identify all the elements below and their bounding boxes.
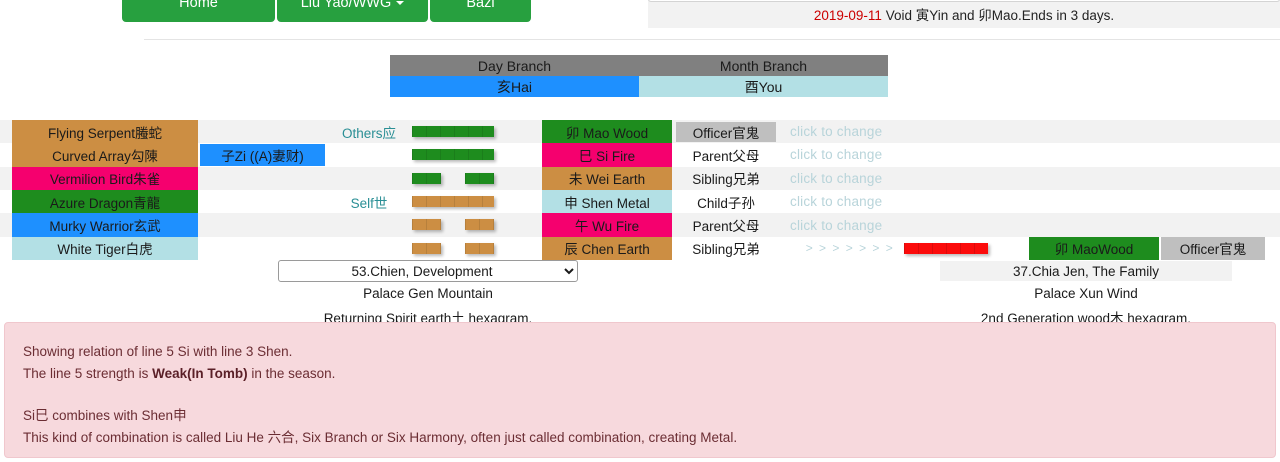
- six-god-label: Murky Warrior玄武: [49, 215, 160, 235]
- click-to-change-label: click to change: [790, 124, 882, 139]
- branch-element-label: 午 Wu Fire: [575, 215, 639, 235]
- hexagram-footer: 53.Chien, Development Palace Gen Mountai…: [0, 260, 1280, 322]
- branch-element-cell: 卯 Mao Wood: [542, 120, 672, 143]
- branch-element-cell: 未 Wei Earth: [542, 167, 672, 190]
- change-arrows-label: > > > > > > >: [806, 241, 895, 255]
- nav-button-bazi[interactable]: Bazi: [430, 0, 531, 22]
- self-other-marker: Others应: [330, 120, 408, 143]
- self-other-label: Others应: [342, 122, 396, 142]
- branch-element-label: 申 Shen Metal: [564, 192, 650, 212]
- branch-header-table: Day Branch Month Branch 亥Hai 酉You: [390, 55, 888, 97]
- relation-cell: Officer官鬼: [676, 122, 776, 142]
- day-branch-header: Day Branch: [390, 55, 639, 76]
- left-palace-label: Palace Gen Mountain: [278, 286, 578, 301]
- hidden-branch-label: 子Zi ((A)妻财): [221, 145, 303, 165]
- relation-cell: Child子孙: [676, 192, 776, 212]
- relation-cell: Sibling兄弟: [676, 169, 776, 189]
- relation-label: Parent父母: [693, 215, 760, 235]
- branch-element-label: 未 Wei Earth: [569, 168, 645, 188]
- relation-label: Officer官鬼: [693, 122, 760, 142]
- top-navigation: Home Liu Yao/WWG Bazi: [0, 0, 640, 22]
- six-god-cell: White Tiger白虎: [12, 237, 198, 260]
- hexagram-line-row: Azure Dragon青龍Self世申 Shen MetalChild子孙cl…: [0, 190, 1280, 213]
- info-line-2: The line 5 strength is Weak(In Tomb) in …: [23, 363, 1257, 385]
- branch-element-label: 辰 Chen Earth: [564, 238, 650, 258]
- info-line-3: Si巳 combines with Shen申: [23, 405, 1257, 427]
- click-to-change-action[interactable]: click to change: [790, 213, 960, 236]
- info-spacer: [23, 384, 1257, 405]
- void-info-line: 2019-09-11 Void 寅Yin and 卯Mao.Ends in 3 …: [648, 4, 1280, 24]
- relation-label: Parent父母: [693, 145, 760, 165]
- six-god-label: White Tiger白虎: [57, 238, 152, 258]
- info-line-2-post: in the season.: [248, 366, 336, 381]
- yao-line-cell[interactable]: [412, 213, 494, 236]
- relation-label: Child子孙: [697, 192, 755, 212]
- click-to-change-action[interactable]: click to change: [790, 167, 960, 190]
- branch-element-label: 巳 Si Fire: [579, 145, 635, 165]
- hexagram-line-row: Vermilion Bird朱雀未 Wei EarthSibling兄弟clic…: [0, 167, 1280, 190]
- click-to-change-label: click to change: [790, 147, 882, 162]
- branch-element-cell: 巳 Si Fire: [542, 143, 672, 166]
- hexagram-line-row: Murky Warrior玄武午 Wu FireParent父母click to…: [0, 213, 1280, 236]
- relation-label: Sibling兄弟: [692, 238, 760, 258]
- info-strength-value: Weak(In Tomb): [152, 366, 248, 381]
- chevron-down-icon: [396, 1, 404, 5]
- hexagram-lines-grid: Flying Serpent螣蛇Others应卯 Mao WoodOfficer…: [0, 120, 1280, 260]
- yao-solid-icon: [412, 126, 494, 137]
- branch-element-cell: 申 Shen Metal: [542, 190, 672, 213]
- note-textarea[interactable]: [648, 0, 1280, 2]
- yao-solid-icon: [412, 196, 494, 207]
- note-panel: 2019-09-11 Void 寅Yin and 卯Mao.Ends in 3 …: [648, 0, 1280, 28]
- info-line-2-pre: The line 5 strength is: [23, 366, 152, 381]
- relation-cell: Parent父母: [676, 215, 776, 235]
- relation-label: Sibling兄弟: [692, 168, 760, 188]
- six-god-cell: Flying Serpent螣蛇: [12, 120, 198, 143]
- month-branch-header: Month Branch: [639, 55, 888, 76]
- relation-info-panel: Showing relation of line 5 Si with line …: [4, 322, 1276, 458]
- day-branch-value: 亥Hai: [390, 76, 639, 97]
- changed-branch-cell: 卯 MaoWood: [1029, 237, 1159, 260]
- nav-label: Liu Yao/WWG: [301, 0, 392, 11]
- branch-element-cell: 辰 Chen Earth: [542, 237, 672, 260]
- hexagram-line-row: Flying Serpent螣蛇Others应卯 Mao WoodOfficer…: [0, 120, 1280, 143]
- void-date: 2019-09-11: [814, 8, 882, 23]
- page-root: Home Liu Yao/WWG Bazi 2019-09-11 Void 寅Y…: [0, 0, 1280, 462]
- void-text: Void 寅Yin and 卯Mao.Ends in 3 days.: [886, 8, 1114, 23]
- nav-label: Home: [179, 0, 218, 11]
- click-to-change-label: click to change: [790, 218, 882, 233]
- yao-line-cell[interactable]: [412, 237, 494, 260]
- six-god-cell: Vermilion Bird朱雀: [12, 167, 198, 190]
- yao-line-cell[interactable]: [412, 120, 494, 143]
- relation-cell: Parent父母: [676, 145, 776, 165]
- six-god-cell: Azure Dragon青龍: [12, 190, 198, 213]
- hexagram-select[interactable]: 53.Chien, Development: [278, 260, 578, 282]
- branch-value-row: 亥Hai 酉You: [390, 76, 888, 97]
- nav-button-liu-yao-wwg[interactable]: Liu Yao/WWG: [277, 0, 428, 22]
- six-god-label: Azure Dragon青龍: [50, 192, 160, 212]
- self-other-marker: Self世: [330, 190, 408, 213]
- relation-cell: Sibling兄弟: [676, 239, 776, 259]
- six-god-label: Flying Serpent螣蛇: [48, 122, 162, 142]
- info-line-4: This kind of combination is called Liu H…: [23, 427, 1257, 449]
- yao-line-cell[interactable]: [412, 143, 494, 166]
- hexagram-line-row: Curved Array勾陳子Zi ((A)妻财)巳 Si FireParent…: [0, 143, 1280, 166]
- month-branch-value: 酉You: [639, 76, 888, 97]
- yao-broken-left-icon: [412, 173, 441, 184]
- yao-solid-icon: [412, 149, 494, 160]
- branch-header-row: Day Branch Month Branch: [390, 55, 888, 76]
- right-palace-label: Palace Xun Wind: [940, 286, 1232, 301]
- right-hexagram-name: 37.Chia Jen, The Family: [940, 261, 1232, 281]
- nav-label: Bazi: [466, 0, 494, 11]
- branch-element-label: 卯 Mao Wood: [566, 122, 648, 142]
- yao-line-cell[interactable]: [412, 190, 494, 213]
- change-arrows: > > > > > > >: [790, 237, 910, 260]
- header-divider: [144, 39, 1280, 40]
- yao-broken-right-icon: [465, 243, 494, 254]
- yao-broken-right-icon: [465, 173, 494, 184]
- changed-relation-cell: Officer官鬼: [1161, 237, 1265, 260]
- nav-button-home[interactable]: Home: [122, 0, 275, 22]
- click-to-change-action[interactable]: click to change: [790, 190, 960, 213]
- six-god-label: Vermilion Bird朱雀: [50, 168, 160, 188]
- click-to-change-label: click to change: [790, 171, 882, 186]
- hidden-branch-cell[interactable]: 子Zi ((A)妻财): [200, 144, 325, 166]
- branch-element-cell: 午 Wu Fire: [542, 213, 672, 236]
- yao-line-cell[interactable]: [412, 167, 494, 190]
- six-god-cell: Murky Warrior玄武: [12, 213, 198, 236]
- click-to-change-label: click to change: [790, 194, 882, 209]
- changed-relation-label: Officer官鬼: [1180, 238, 1247, 258]
- six-god-cell: Curved Array勾陳: [12, 143, 198, 166]
- changed-yao-cell[interactable]: [904, 237, 988, 260]
- info-line-1: Showing relation of line 5 Si with line …: [23, 341, 1257, 363]
- yao-broken-left-icon: [412, 219, 441, 230]
- click-to-change-action[interactable]: click to change: [790, 143, 960, 166]
- hexagram-line-row: White Tiger白虎辰 Chen EarthSibling兄弟> > > …: [0, 237, 1280, 260]
- yao-changed-solid-icon: [904, 243, 988, 254]
- yao-broken-right-icon: [465, 219, 494, 230]
- click-to-change-action[interactable]: click to change: [790, 120, 960, 143]
- six-god-label: Curved Array勾陳: [52, 145, 158, 165]
- changed-branch-label: 卯 MaoWood: [1055, 238, 1134, 258]
- yao-broken-left-icon: [412, 243, 441, 254]
- self-other-label: Self世: [351, 192, 388, 212]
